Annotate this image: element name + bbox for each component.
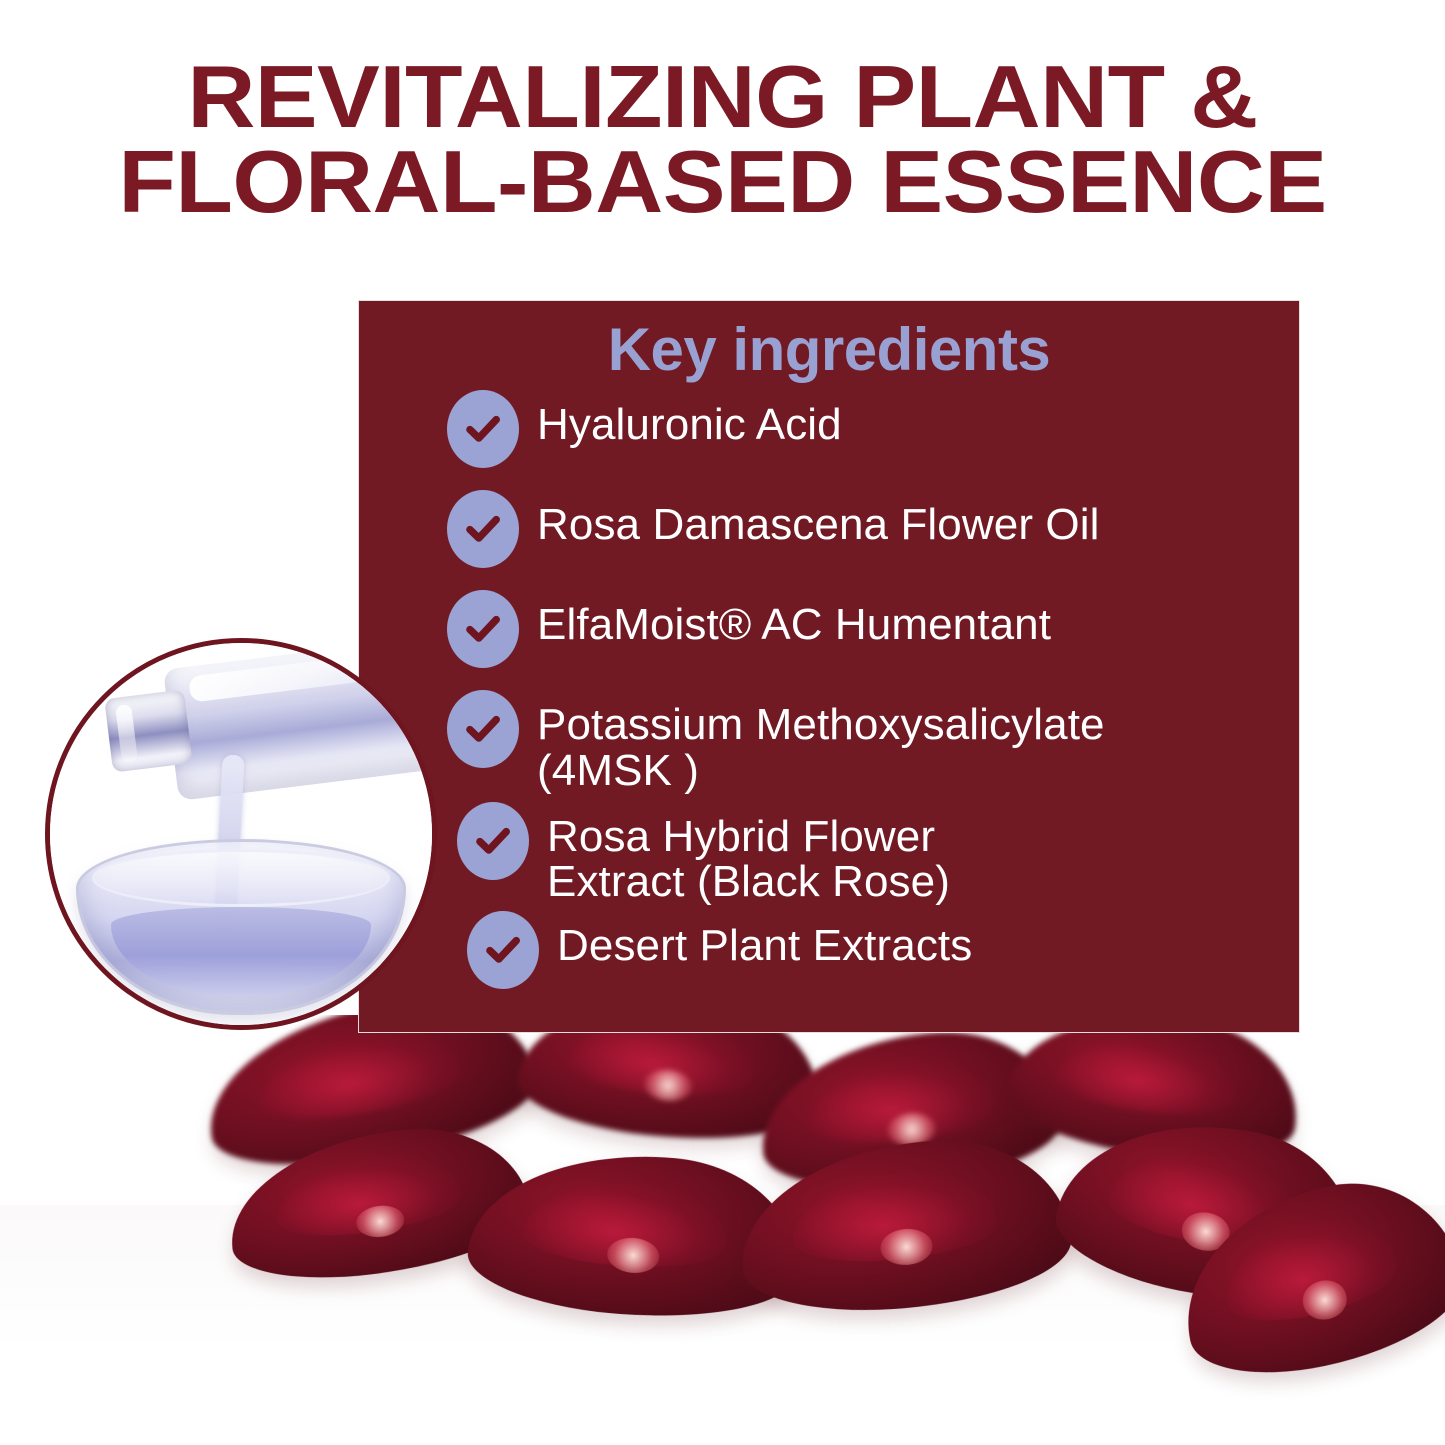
list-item-label: Rosa Hybrid Flower Extract (Black Rose) bbox=[547, 802, 950, 906]
product-texture-photo bbox=[45, 638, 437, 1030]
key-ingredients-panel: Key ingredients Hyaluronic Acid Rosa Dam… bbox=[358, 300, 1300, 1033]
list-item-label: Hyaluronic Acid bbox=[537, 390, 842, 448]
check-circle-icon bbox=[447, 490, 519, 568]
check-circle-icon bbox=[447, 590, 519, 668]
bottle-neck bbox=[104, 689, 192, 772]
inset-scene bbox=[50, 643, 432, 1025]
serum-bottle bbox=[163, 638, 437, 801]
check-circle-icon bbox=[467, 911, 539, 989]
check-circle-icon bbox=[457, 802, 529, 880]
check-circle-icon bbox=[447, 690, 519, 768]
list-item-label: Desert Plant Extracts bbox=[557, 911, 972, 969]
page-title: REVITALIZING PLANT & FLORAL-BASED ESSENC… bbox=[0, 54, 1445, 225]
check-circle-icon bbox=[447, 390, 519, 468]
glass-bowl bbox=[76, 839, 406, 1015]
list-item-label: Rosa Damascena Flower Oil bbox=[537, 490, 1099, 548]
list-item: Rosa Hybrid Flower Extract (Black Rose) bbox=[457, 802, 1299, 906]
list-item: Hyaluronic Acid bbox=[447, 390, 1299, 468]
list-item: Rosa Damascena Flower Oil bbox=[447, 490, 1299, 568]
list-item: Desert Plant Extracts bbox=[467, 911, 1299, 989]
rose-petals-photo bbox=[0, 1015, 1445, 1445]
panel-title: Key ingredients bbox=[359, 315, 1299, 384]
ingredients-list: Hyaluronic Acid Rosa Damascena Flower Oi… bbox=[359, 390, 1299, 989]
page-title-line-2: FLORAL-BASED ESSENCE bbox=[0, 139, 1445, 224]
bowl-liquid bbox=[111, 907, 370, 995]
list-item: ElfaMoist® AC Humentant bbox=[447, 590, 1299, 668]
list-item-label: Potassium Methoxysalicylate (4MSK ) bbox=[537, 690, 1105, 794]
list-item-label: ElfaMoist® AC Humentant bbox=[537, 590, 1051, 648]
list-item: Potassium Methoxysalicylate (4MSK ) bbox=[447, 690, 1299, 794]
page-title-line-1: REVITALIZING PLANT & bbox=[0, 54, 1445, 139]
bowl-rim bbox=[92, 849, 390, 907]
